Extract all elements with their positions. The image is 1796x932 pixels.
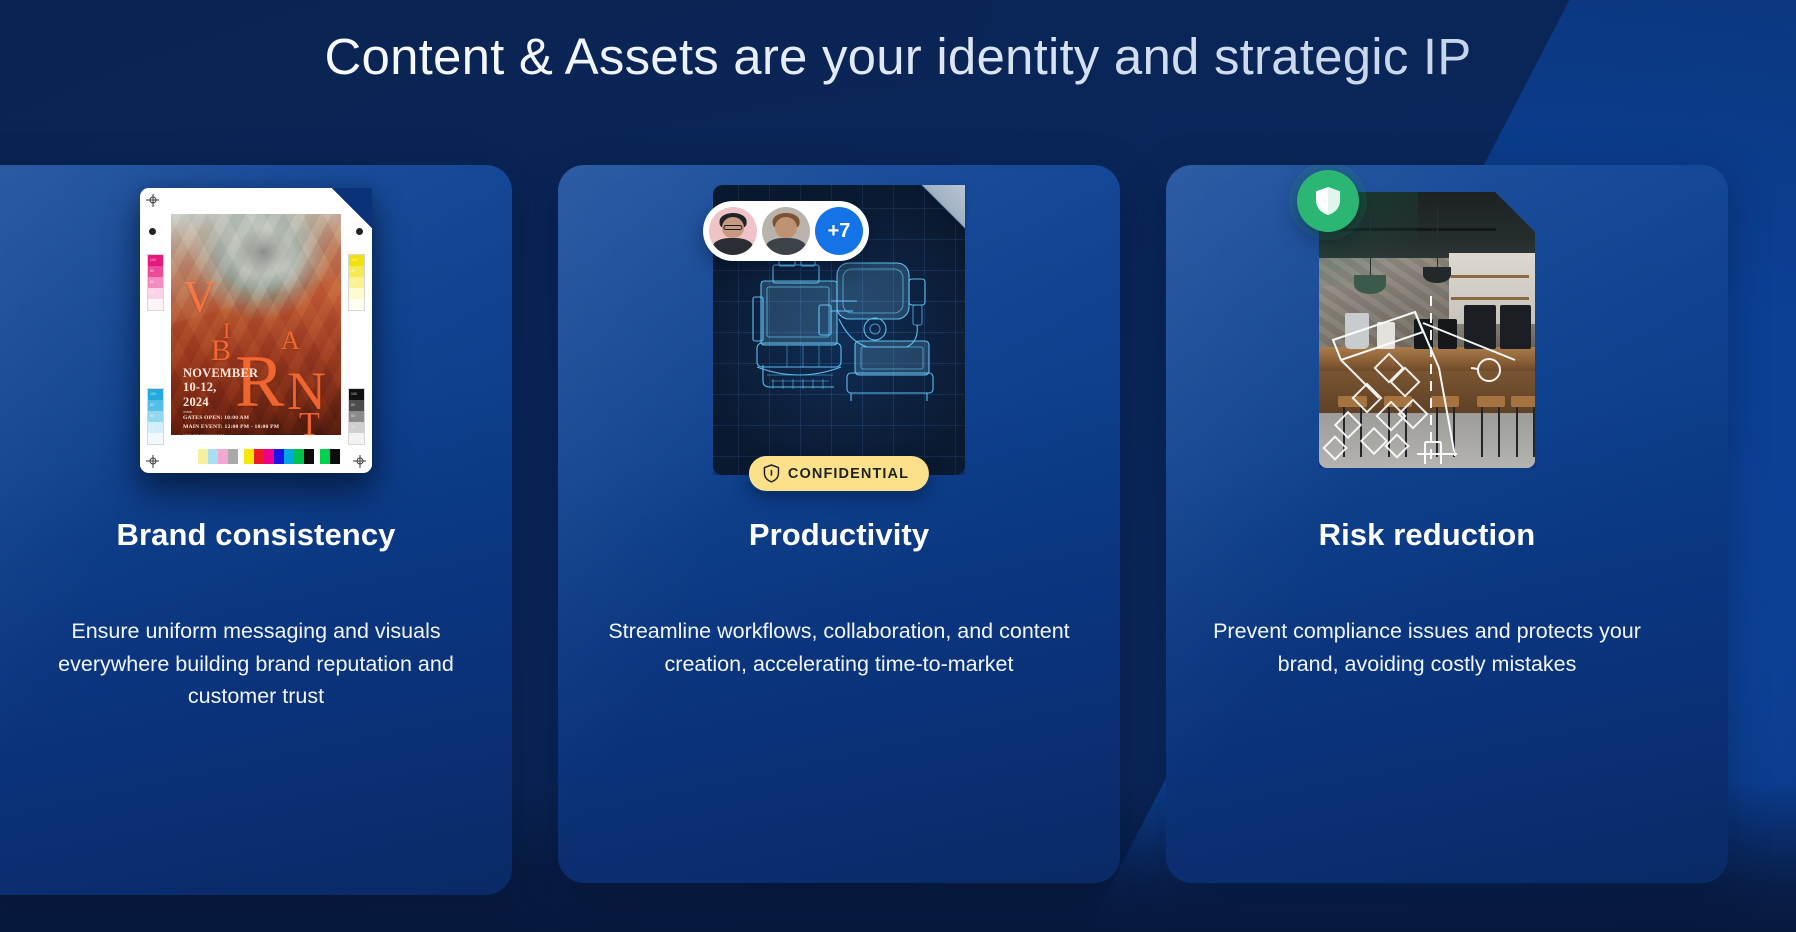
tint-step: 80 xyxy=(349,266,364,277)
tint-ladder-yellow: 100 80 50 20 5 xyxy=(348,254,365,311)
poster-headline: NOVEMBER 10-12, 2024 xyxy=(183,366,258,410)
tint-step: 20 xyxy=(148,288,163,299)
color-swatch xyxy=(254,449,264,464)
confidential-badge-label: CONFIDENTIAL xyxy=(788,466,909,482)
crop-dot-icon xyxy=(356,228,363,235)
tint-step: 50 xyxy=(148,411,163,422)
shield-icon xyxy=(1314,185,1342,217)
slide-title: Content & Assets are your identity and s… xyxy=(0,28,1796,87)
card-productivity[interactable]: +7 CONFIDENTIAL Productivity Streamline … xyxy=(558,165,1120,883)
card-risk-reduction[interactable]: Risk reduction Prevent compliance issues… xyxy=(1166,165,1728,883)
poster-disclaimer: SOME IMPORTANT DETAILS RESTRICTIONS THIS… xyxy=(183,433,341,435)
poster-month: NOVEMBER xyxy=(183,366,258,381)
card-visual-print-proof: 100 80 50 20 5 100 80 50 20 5 100 xyxy=(0,165,512,495)
card-brand-consistency[interactable]: 100 80 50 20 5 100 80 50 20 5 100 xyxy=(0,165,512,895)
poster-letter: V xyxy=(183,270,216,323)
poster-time-label: TIME xyxy=(183,410,279,415)
color-swatch xyxy=(284,449,294,464)
photo-espresso-machine xyxy=(1500,305,1530,349)
photo-stool xyxy=(1477,396,1505,457)
card-description: Streamline workflows, collaboration, and… xyxy=(597,615,1080,680)
photo-stool xyxy=(1384,396,1412,457)
feature-cards-row: 100 80 50 20 5 100 80 50 20 5 100 xyxy=(0,165,1796,895)
tint-step: 50 xyxy=(349,277,364,288)
color-swatch xyxy=(320,449,330,464)
color-swatch xyxy=(228,449,238,464)
tint-ladder-cyan: 100 80 50 20 5 xyxy=(147,388,164,445)
tint-step: 50 xyxy=(148,277,163,288)
tint-step: 100 xyxy=(148,255,163,266)
photo-espresso-grinder xyxy=(1438,319,1457,349)
avatar[interactable] xyxy=(762,207,810,255)
photo-shelf xyxy=(1451,297,1529,300)
color-swatch xyxy=(274,449,284,464)
card-title: Brand consistency xyxy=(116,517,395,553)
color-swatch xyxy=(218,449,228,464)
cmyk-color-bar xyxy=(198,449,346,464)
tint-ladder-magenta: 100 80 50 20 5 xyxy=(147,254,164,311)
card-description: Ensure uniform messaging and visuals eve… xyxy=(36,615,476,713)
poster-disclaimer-label: SOME IMPORTANT DETAILS xyxy=(183,433,341,435)
tint-step: 80 xyxy=(148,400,163,411)
tint-ladder-black: 100 80 50 20 5 xyxy=(348,388,365,445)
tint-step: 20 xyxy=(349,288,364,299)
card-visual-blueprint: +7 CONFIDENTIAL xyxy=(558,165,1120,495)
machine-xray-drawing xyxy=(727,245,951,415)
poster-letter: T xyxy=(299,406,320,435)
poster-gates-open: GATES OPEN: 10:00 AM xyxy=(183,414,279,422)
poster-main-event: MAIN EVENT: 12:00 PM - 10:00 PM xyxy=(183,423,279,431)
card-description: Prevent compliance issues and protects y… xyxy=(1203,615,1652,680)
crop-dot-icon xyxy=(149,228,156,235)
tint-step: 5 xyxy=(148,299,163,310)
tint-step: 80 xyxy=(148,266,163,277)
photo-pendant-lamp xyxy=(1423,267,1451,284)
registration-mark-icon xyxy=(146,455,159,468)
registration-mark-icon xyxy=(353,455,366,468)
avatar[interactable] xyxy=(709,207,757,255)
collaborator-avatars[interactable]: +7 xyxy=(703,201,869,261)
photo-stool xyxy=(1511,396,1535,457)
card-title: Risk reduction xyxy=(1319,517,1536,553)
poster-year: 2024 xyxy=(183,395,258,410)
photo-stool xyxy=(1338,396,1366,457)
photo-espresso-grinder xyxy=(1414,319,1433,349)
poster-dates: 10-12, xyxy=(183,380,258,395)
photo-brewer xyxy=(1345,313,1369,349)
color-swatch xyxy=(330,449,340,464)
cafe-document xyxy=(1319,192,1535,468)
tint-step: 80 xyxy=(349,400,364,411)
page-corner-fold xyxy=(921,185,965,229)
tint-step: 20 xyxy=(349,422,364,433)
card-title: Productivity xyxy=(749,517,929,553)
poster-schedule: TIME GATES OPEN: 10:00 AM MAIN EVENT: 12… xyxy=(183,410,279,432)
photo-stool xyxy=(1431,396,1459,457)
avatar-overflow-count[interactable]: +7 xyxy=(815,207,863,255)
card-visual-cafe xyxy=(1166,165,1688,495)
shield-icon xyxy=(763,464,780,483)
tint-step: 5 xyxy=(148,433,163,444)
photo-shelf xyxy=(1451,275,1529,278)
color-swatch xyxy=(264,449,274,464)
print-proof-sheet: 100 80 50 20 5 100 80 50 20 5 100 xyxy=(140,188,372,473)
photo-counter-top xyxy=(1319,347,1535,372)
poster-letter: B xyxy=(211,334,231,368)
color-swatch xyxy=(294,449,304,464)
page-corner-fold xyxy=(332,188,372,228)
tint-step: 5 xyxy=(349,299,364,310)
tint-step: 100 xyxy=(148,389,163,400)
confidential-badge: CONFIDENTIAL xyxy=(749,456,929,491)
registration-mark-icon xyxy=(146,194,159,207)
photo-espresso-machine xyxy=(1464,305,1496,349)
color-bar-pale-group xyxy=(198,449,238,464)
color-bar-tail-group xyxy=(320,449,340,464)
color-swatch xyxy=(304,449,314,464)
poster-artwork: V I B R A N T NOVEMBER 10-12, 2024 xyxy=(171,214,341,435)
security-shield-badge xyxy=(1297,170,1359,232)
tint-step: 100 xyxy=(349,255,364,266)
color-swatch xyxy=(244,449,254,464)
tint-step: 5 xyxy=(349,433,364,444)
tint-step: 50 xyxy=(349,411,364,422)
color-bar-solid-group xyxy=(244,449,314,464)
tint-step: 20 xyxy=(148,422,163,433)
tint-step: 100 xyxy=(349,389,364,400)
color-swatch xyxy=(198,449,208,464)
blueprint-document: +7 CONFIDENTIAL xyxy=(713,185,965,475)
photo-cup-stack xyxy=(1377,322,1394,350)
cafe-photo xyxy=(1319,192,1535,468)
poster-letter: A xyxy=(281,326,300,356)
color-swatch xyxy=(208,449,218,464)
